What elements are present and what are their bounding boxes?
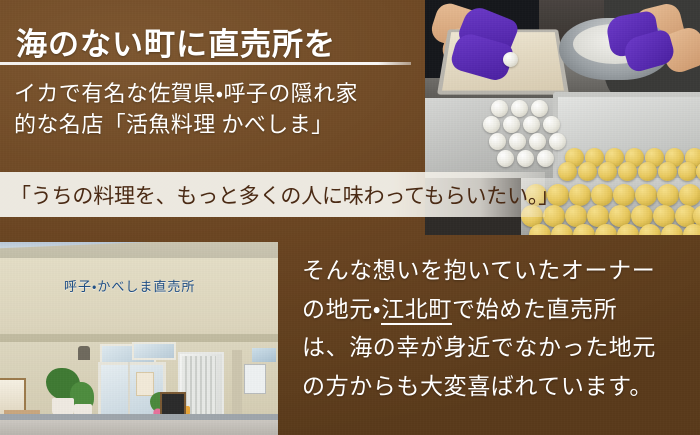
body-line-2b: で始めた直売所: [452, 297, 617, 322]
fried-ball: [558, 162, 577, 181]
quote-band: 「うちの料理を、もっと多くの人に味わってもらいたい。」: [0, 172, 545, 217]
subhead-line-2: 的な名店「活魚料理 かべしま」: [14, 109, 419, 140]
fried-ball: [638, 162, 657, 181]
headline-divider: [0, 62, 411, 65]
breaded-ball: [503, 116, 520, 133]
breaded-ball: [509, 133, 526, 150]
breaded-ball: [529, 133, 546, 150]
fried-ball: [569, 184, 591, 206]
body-line-1: そんな想いを抱いていたオーナー: [302, 252, 694, 291]
side-window: [252, 348, 276, 362]
fried-ball: [578, 162, 597, 181]
pavement: [0, 420, 278, 435]
body-line-3: は、海の幸が身近でなかった地元: [302, 329, 694, 368]
fried-ball: [658, 162, 677, 181]
breaded-ball: [531, 100, 548, 117]
breaded-ball: [497, 150, 514, 167]
wall-lamp: [78, 346, 90, 360]
subhead-line-1: イカで有名な佐賀県・呼子の隠れ家: [14, 78, 419, 109]
fried-ball: [678, 162, 697, 181]
fried-ball: [635, 184, 657, 206]
utility-post: [232, 350, 242, 422]
breaded-ball: [523, 116, 540, 133]
headline: 海のない町に直売所を: [16, 27, 416, 64]
breaded-ball: [537, 150, 554, 167]
breaded-ball: [549, 133, 566, 150]
fried-ball: [613, 184, 635, 206]
door-notice: [136, 372, 154, 396]
fried-ball: [657, 184, 679, 206]
fried-ball: [598, 162, 617, 181]
subhead: イカで有名な佐賀県・呼子の隠れ家 的な名店「活魚料理 かべしま」: [14, 78, 419, 140]
fried-ball: [679, 184, 700, 206]
promo-banner: 呼子・かべしま直売所 海のない町に直売所を イカで有名な佐賀県・呼子の隠れ家 的…: [0, 0, 700, 435]
breaded-ball: [517, 150, 534, 167]
town-name-underlined: 江北町: [381, 297, 452, 325]
window: [132, 342, 176, 360]
breaded-ball: [489, 133, 506, 150]
quote-text: 「うちの料理を、もっと多くの人に味わってもらいたい。」: [0, 180, 559, 210]
breaded-ball: [543, 116, 560, 133]
breaded-ball: [503, 52, 518, 67]
side-signboard: [244, 364, 266, 394]
storefront-sign-text: 呼子・かべしま直売所: [64, 276, 214, 296]
body-copy: そんな想いを抱いていたオーナー の地元・江北町で始めた直売所 は、海の幸が身近で…: [302, 252, 694, 407]
body-line-2: の地元・江北町で始めた直売所: [302, 291, 694, 330]
storefront-photo: 呼子・かべしま直売所: [0, 242, 278, 435]
breaded-ball: [483, 116, 500, 133]
body-line-4: の方からも大変喜ばれています。: [302, 368, 694, 407]
breaded-ball: [491, 100, 508, 117]
breaded-ball: [511, 100, 528, 117]
facade-band: [0, 334, 278, 342]
fried-ball: [618, 162, 637, 181]
fried-ball: [591, 184, 613, 206]
body-line-2a: の地元・: [302, 297, 381, 322]
